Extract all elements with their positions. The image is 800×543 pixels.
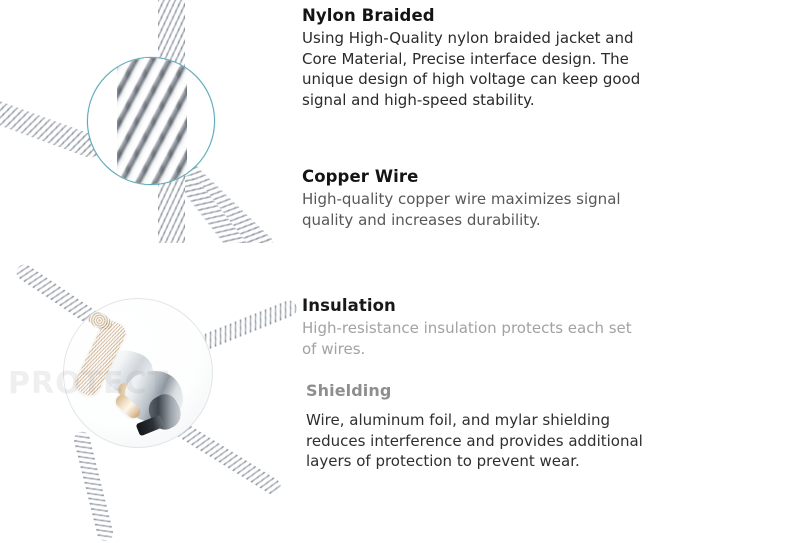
feature-heading-insulation: Insulation (302, 296, 650, 316)
feature-heading-shielding: Shielding (306, 381, 654, 401)
media-column: PROTECT (0, 0, 290, 502)
feature-heading-nylon-braided: Nylon Braided (302, 6, 650, 26)
feature-block-nylon-braided: Nylon Braided Using High-Quality nylon b… (302, 6, 650, 110)
feature-text-column: Nylon Braided Using High-Quality nylon b… (302, 0, 652, 502)
feature-block-shielding: Shielding Wire, aluminum foil, and mylar… (306, 381, 654, 472)
magnified-braid-texture (117, 57, 187, 185)
feature-block-copper-wire: Copper Wire High-quality copper wire max… (302, 167, 650, 230)
feature-body-nylon-braided: Using High-Quality nylon braided jacket … (302, 28, 650, 110)
nylon-braid-photo (0, 0, 290, 243)
product-feature-infographic: PROTECT Nylon Braided Using High-Quality… (0, 0, 800, 502)
feature-body-insulation: High-resistance insulation protects each… (302, 318, 650, 359)
magnifier-lens-braid (87, 57, 215, 185)
feature-heading-copper-wire: Copper Wire (302, 167, 650, 187)
feature-block-insulation: Insulation High-resistance insulation pr… (302, 296, 650, 359)
magnifier-lens-cutaway (63, 298, 213, 448)
feature-body-shielding: Wire, aluminum foil, and mylar shielding… (306, 410, 654, 472)
feature-body-copper-wire: High-quality copper wire maximizes signa… (302, 189, 650, 230)
